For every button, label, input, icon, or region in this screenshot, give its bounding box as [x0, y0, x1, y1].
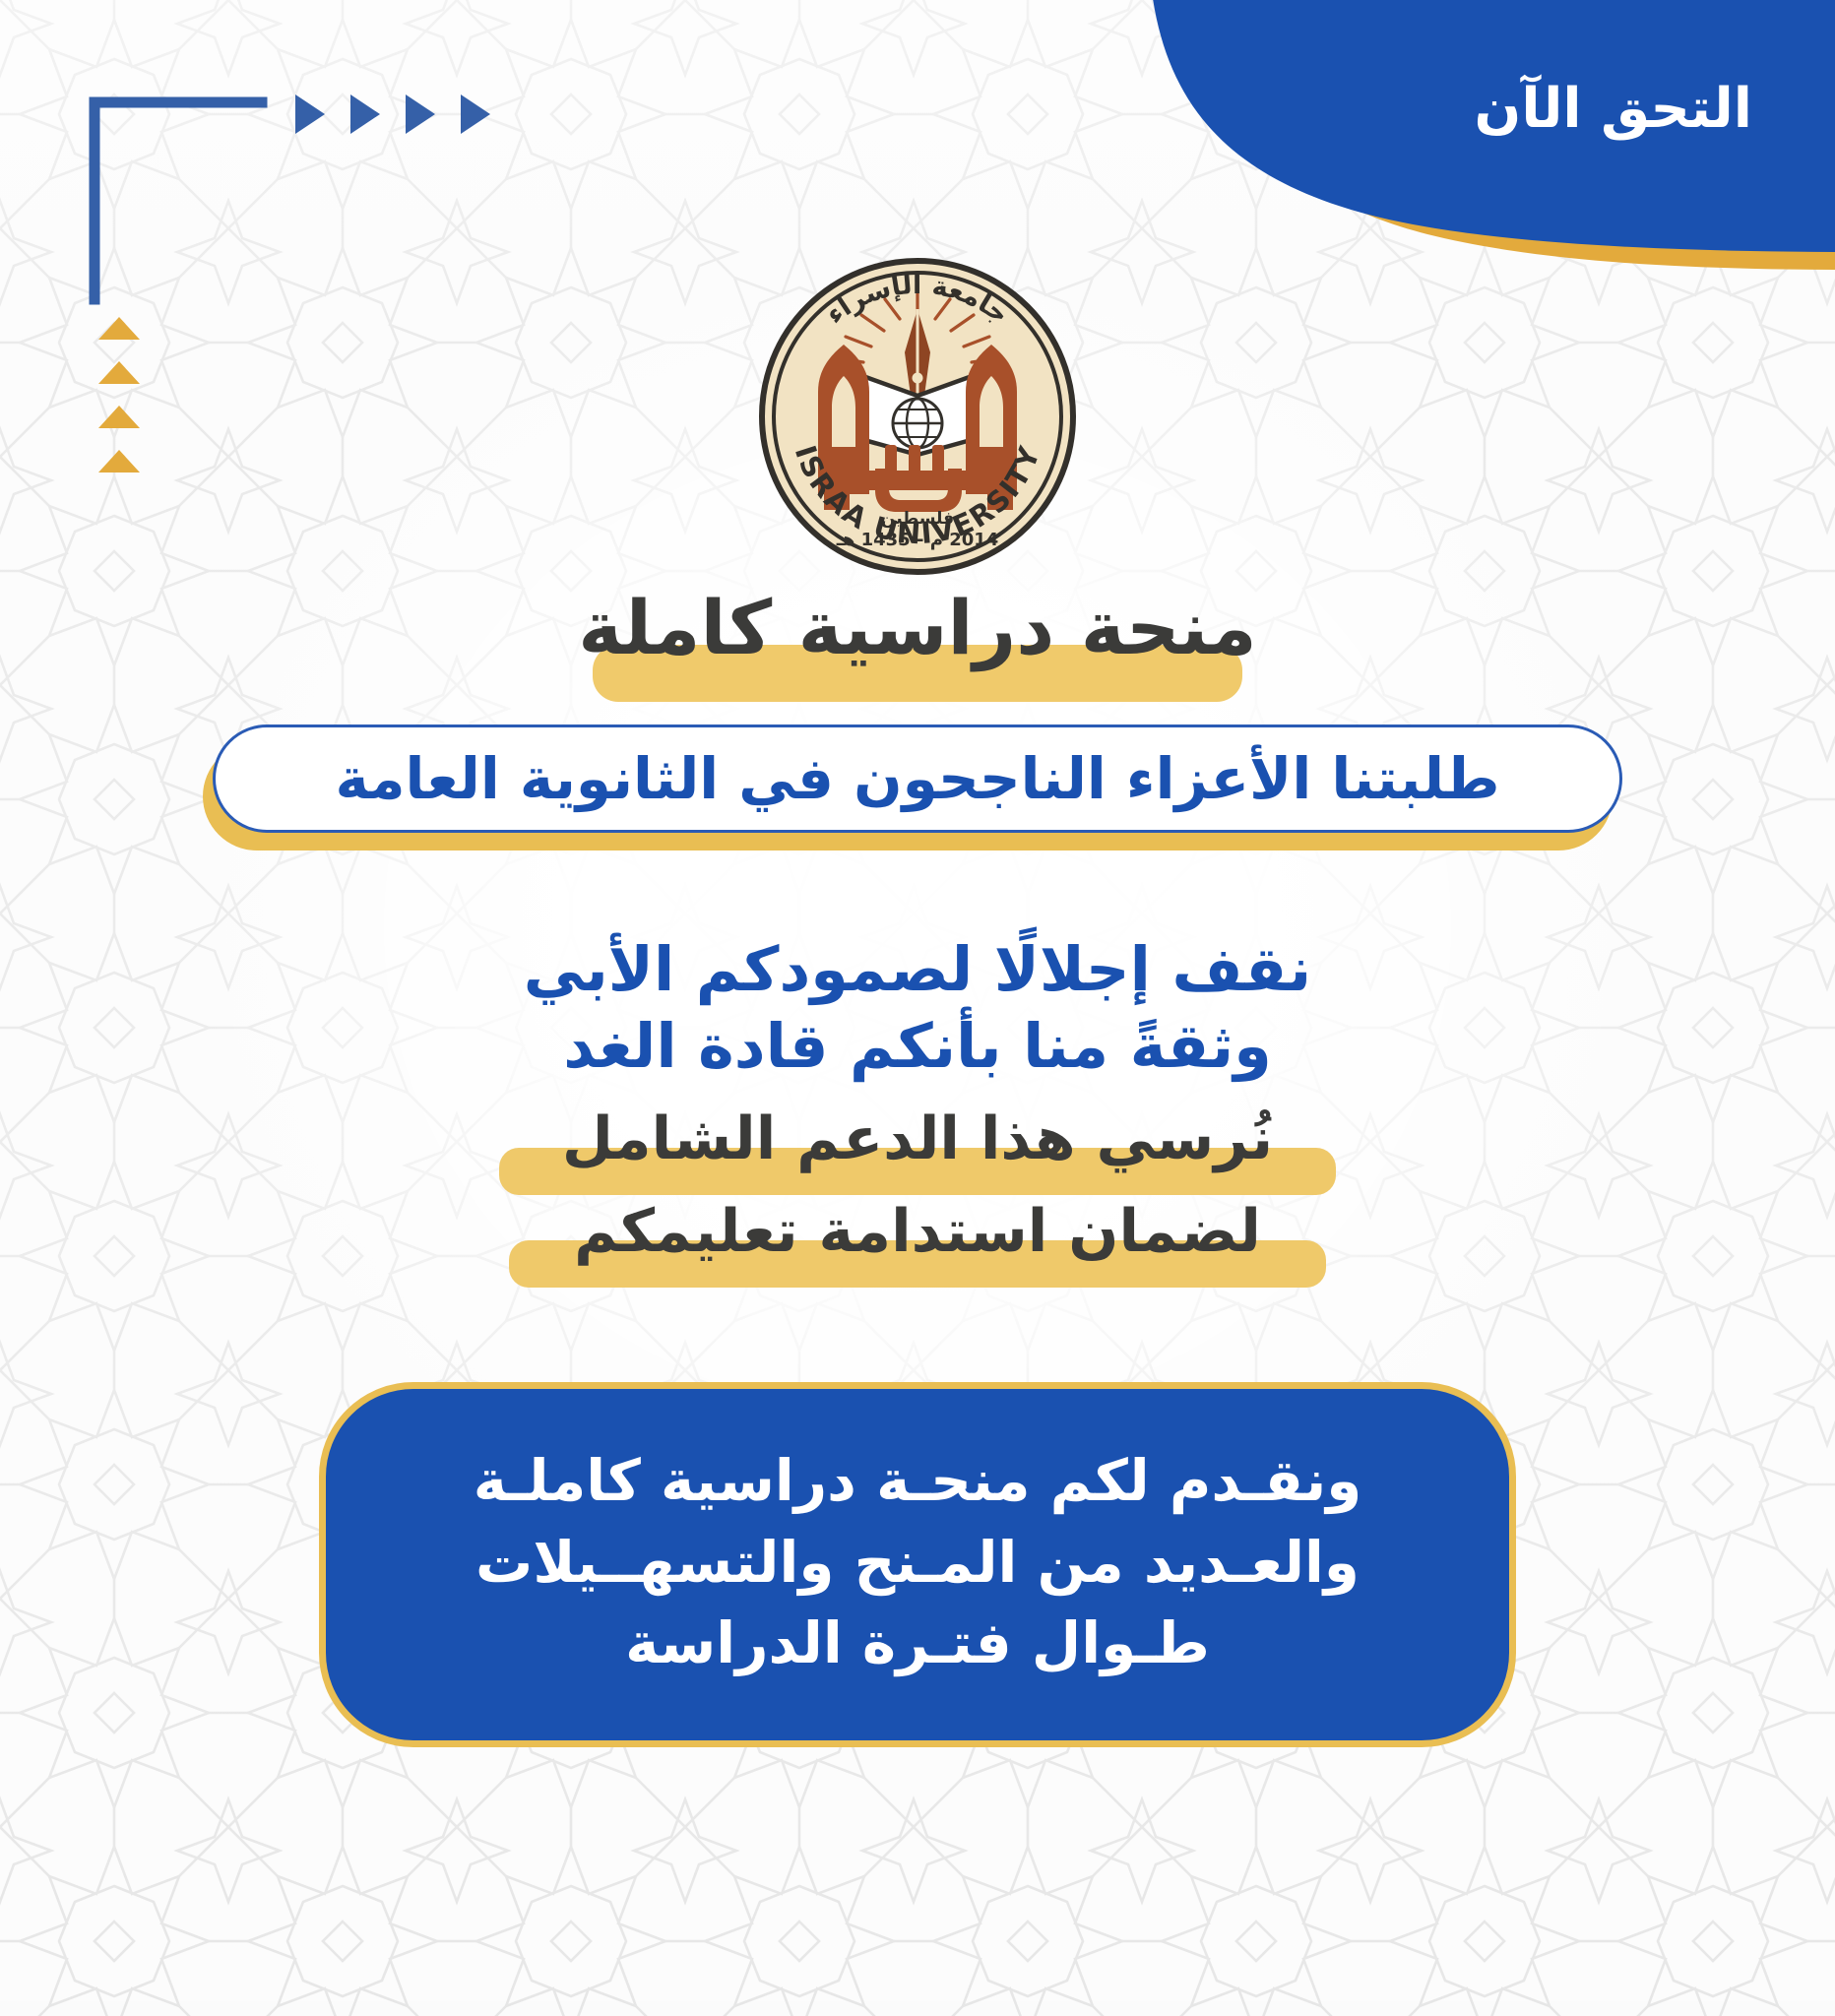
right-arrow-icon — [350, 94, 380, 134]
page-title: منحة دراسية كاملة — [0, 591, 1835, 665]
offer-card[interactable]: ونقـدم لكم منحـة دراسية كاملـة والعـديد … — [319, 1382, 1516, 1747]
subheadline-pill-wrapper: طلبتنا الأعزاء الناجحون في الثانوية العا… — [213, 724, 1622, 841]
corner-bracket-decoration — [87, 94, 274, 306]
cta-line-1: ونقـدم لكم منحـة دراسية كاملـة — [395, 1440, 1440, 1521]
right-arrow-icon — [295, 94, 325, 134]
scholarship-poster: التحق الآن — [0, 0, 1835, 2016]
enroll-now-label: التحق الآن — [1475, 77, 1752, 141]
body-blue-line-2: وثقةً منا بأنكم قادة الغد — [0, 1008, 1835, 1085]
headline-row: منحة دراسية كاملة — [0, 591, 1835, 699]
body-blue-line-1: نقف إجلالًا لصمودكم الأبي — [0, 931, 1835, 1008]
body-blue-lines: نقف إجلالًا لصمودكم الأبي وثقةً منا بأنك… — [0, 931, 1835, 1085]
body-highlighted-lines: نُرسي هذا الدعم الشامل لضمان استدامة تعل… — [0, 1108, 1835, 1288]
up-triangle-icon — [98, 406, 140, 428]
enroll-now-banner[interactable] — [1034, 0, 1835, 348]
highlight-line-1: نُرسي هذا الدعم الشامل — [0, 1108, 1835, 1170]
cta-line-2: والعـديد من المـنح والتسهــيلات — [395, 1522, 1440, 1603]
cta-line-3: طـوال فتـرة الدراسة — [395, 1603, 1440, 1683]
up-triangle-decoration-group — [98, 317, 140, 472]
up-triangle-icon — [98, 450, 140, 472]
up-triangle-icon — [98, 361, 140, 384]
cta-card-wrapper: ونقـدم لكم منحـة دراسية كاملـة والعـديد … — [319, 1382, 1516, 1747]
poster-content: منحة دراسية كاملة طلبتنا الأعزاء الناجحو… — [0, 591, 1835, 1747]
logo-founded-year: 2014 م - 1435 هـ — [836, 530, 999, 550]
subheadline-pill: طلبتنا الأعزاء الناجحون في الثانوية العا… — [213, 724, 1622, 833]
university-logo: جامعة الإسراء ISRAA UNIVERSITY فلسطين 20… — [759, 258, 1076, 575]
subheadline-text: طلبتنا الأعزاء الناجحون في الثانوية العا… — [335, 750, 1499, 807]
right-arrow-decoration-group — [295, 94, 490, 134]
highlight-line-2: لضمان استدامة تعليمكم — [0, 1201, 1835, 1263]
right-arrow-icon — [406, 94, 435, 134]
logo-country: فلسطين — [881, 509, 954, 529]
highlight-row-1: نُرسي هذا الدعم الشامل — [0, 1108, 1835, 1195]
up-triangle-icon — [98, 317, 140, 340]
right-arrow-icon — [461, 94, 490, 134]
highlight-row-2: لضمان استدامة تعليمكم — [0, 1201, 1835, 1288]
